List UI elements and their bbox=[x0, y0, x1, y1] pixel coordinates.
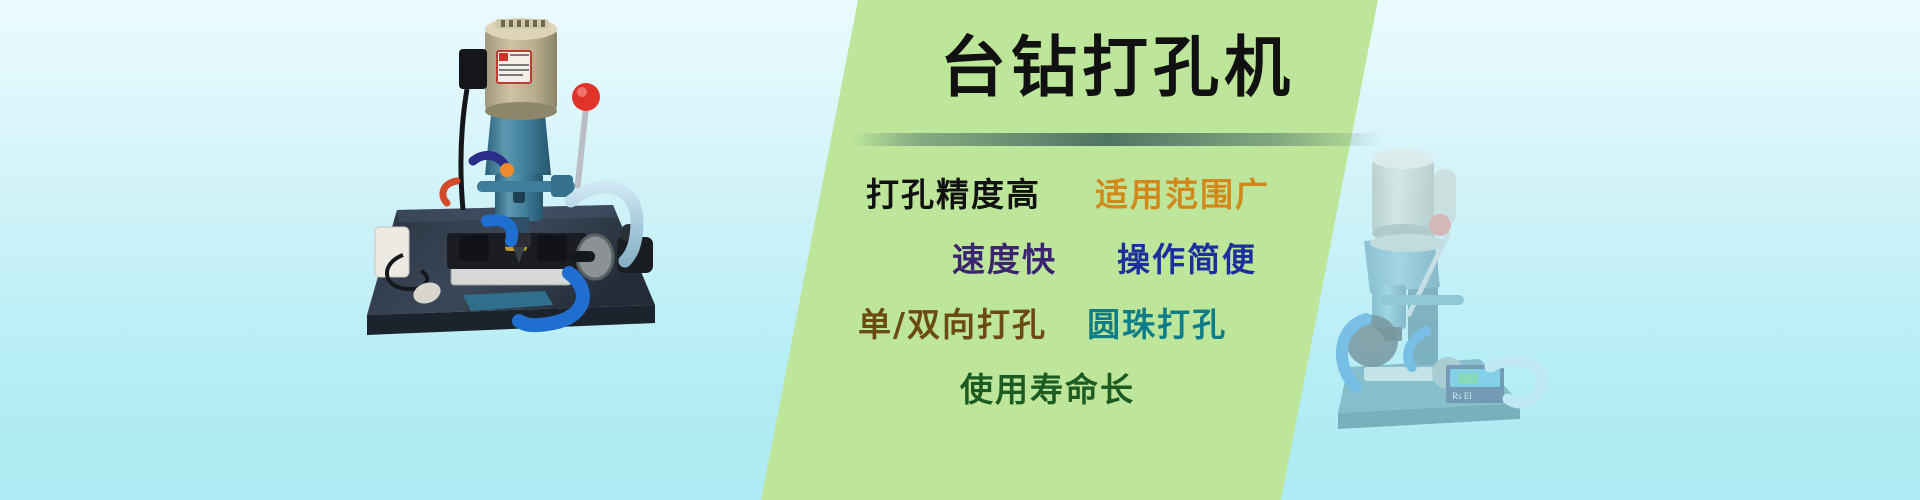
left-machine-image bbox=[355, 5, 685, 375]
right-machine-image: Rs El bbox=[1330, 135, 1560, 435]
feature-label: 速度快 bbox=[952, 243, 1057, 276]
feature-label: 适用范围广 bbox=[1095, 178, 1270, 211]
feature-row-2: 速度快操作简便 bbox=[952, 243, 1257, 276]
feature-label: 打孔精度高 bbox=[866, 178, 1041, 211]
feature-label: 圆珠打孔 bbox=[1087, 308, 1227, 341]
feature-row-3: 单/双向打孔圆珠打孔 bbox=[858, 308, 1227, 341]
feature-label: 单/双向打孔 bbox=[858, 308, 1047, 341]
feature-label: 使用寿命长 bbox=[960, 373, 1135, 406]
feature-label: 操作简便 bbox=[1117, 243, 1257, 276]
product-banner: Rs El 台钻打孔机 打孔精度高适用范围广 速度快操作简便 单/双向打孔圆珠打… bbox=[0, 0, 1920, 500]
title-divider bbox=[851, 133, 1384, 146]
feature-row-1: 打孔精度高适用范围广 bbox=[866, 178, 1270, 211]
page-title: 台钻打孔机 bbox=[940, 34, 1295, 100]
svg-text:Rs El: Rs El bbox=[1452, 391, 1472, 401]
feature-row-4: 使用寿命长 bbox=[960, 373, 1135, 406]
